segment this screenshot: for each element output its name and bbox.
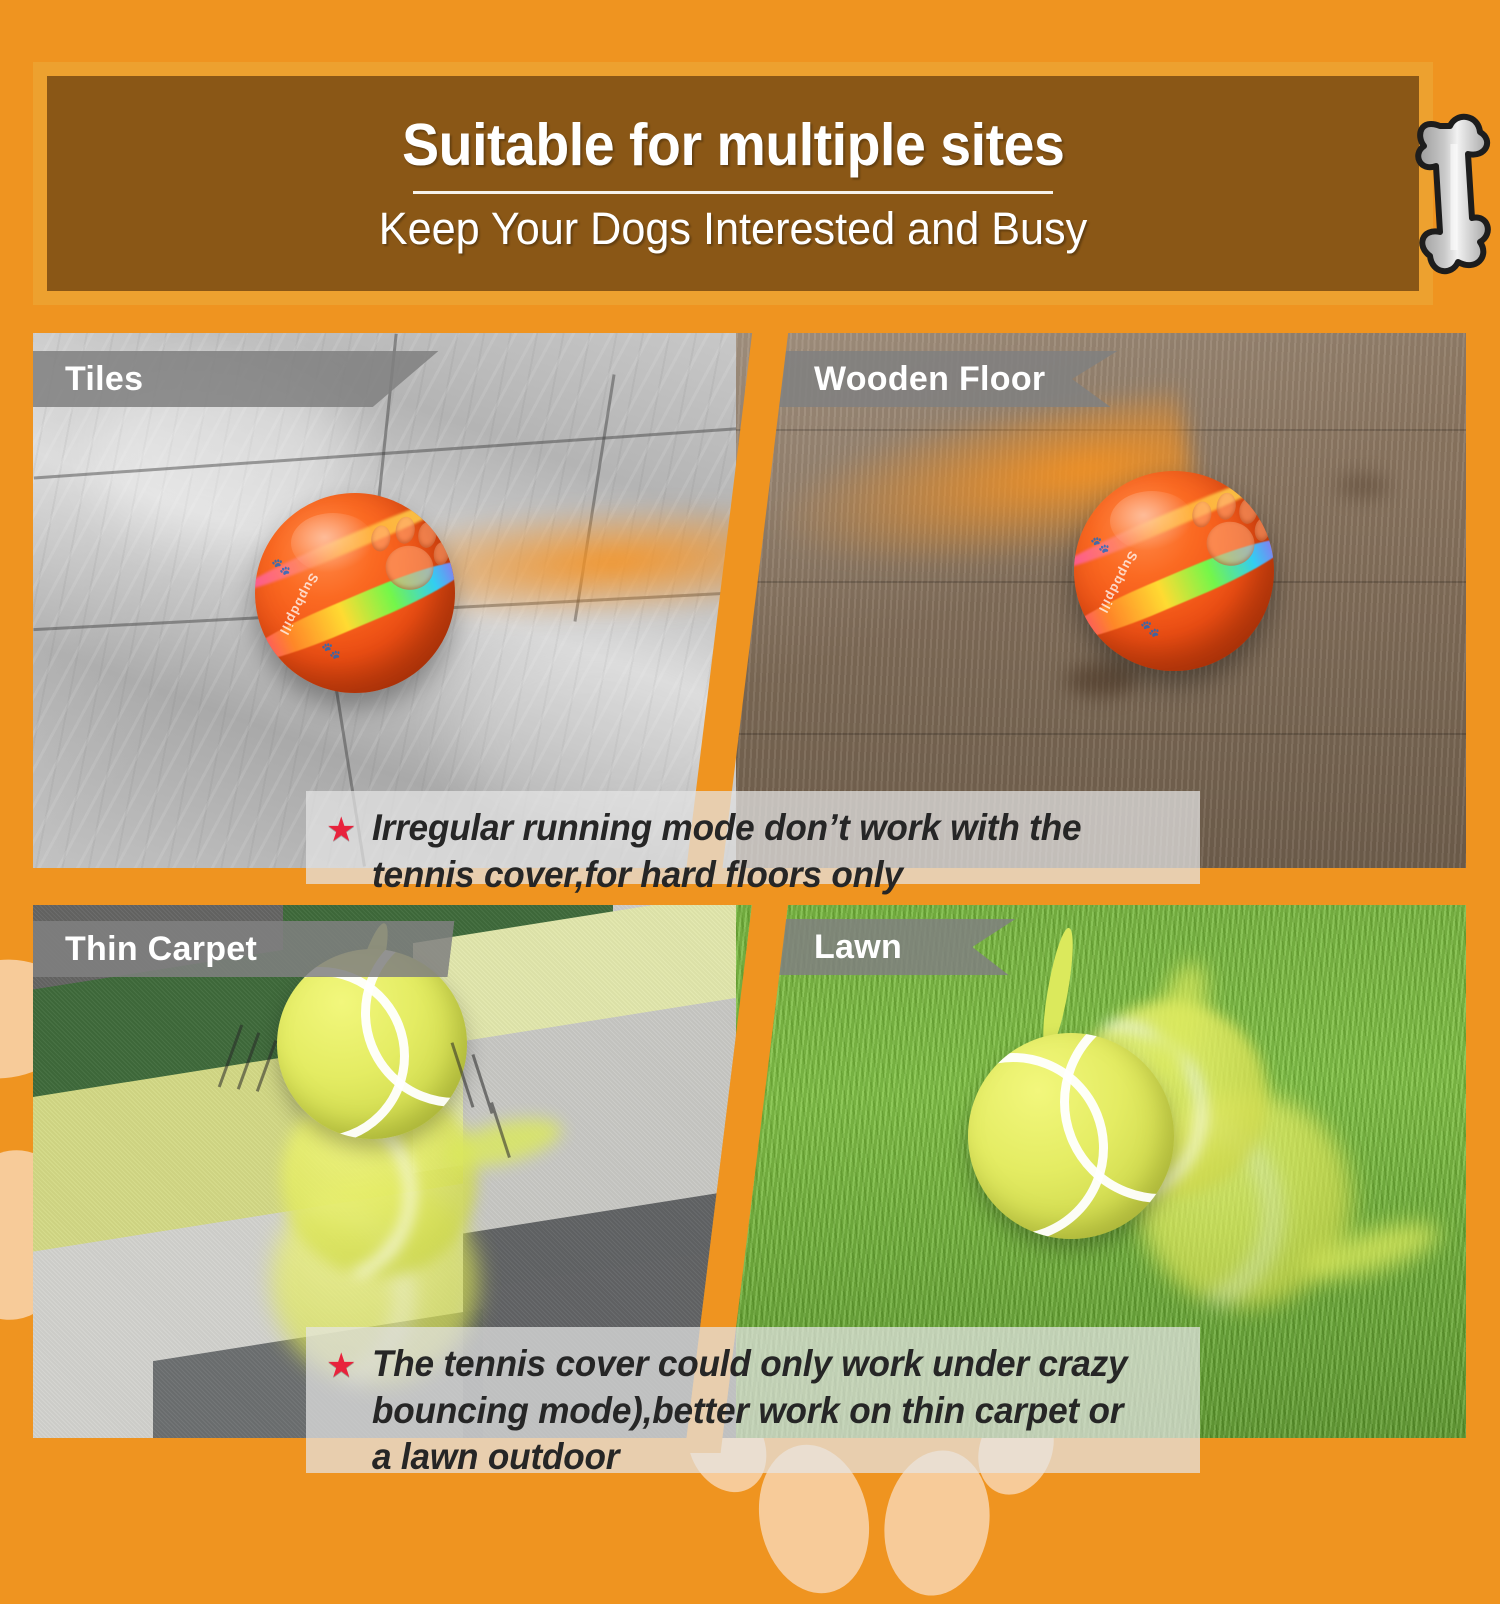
paw-emboss [1181, 486, 1272, 580]
star-bullet-icon: ★ [326, 1349, 356, 1383]
tennis-ball-cover [968, 1033, 1174, 1239]
panel-label-text: Lawn [814, 928, 902, 967]
ball-highlight [291, 513, 375, 573]
panel-label-text: Wooden Floor [814, 360, 1046, 399]
ball-mini-paw-icon: 🐾 [1140, 619, 1160, 639]
header-inner-box: Suitable for multiple sites Keep Your Do… [47, 76, 1419, 291]
ball-mini-paw-icon: 🐾 [321, 641, 341, 661]
tennis-ball-cover [277, 949, 467, 1139]
caption-hard-floors: ★ Irregular running mode don’t work with… [306, 791, 1200, 884]
paw-emboss [360, 510, 451, 604]
orange-rolling-ball: Supbdpill 🐾 🐾 [1074, 471, 1274, 671]
panel-label-text: Tiles [65, 360, 143, 399]
panel-label-wooden-floor: Wooden Floor [761, 351, 1118, 407]
wood-knot [1336, 473, 1390, 499]
panel-wooden-floor[interactable]: Supbdpill 🐾 🐾 Wooden Floor [736, 333, 1466, 868]
caption-text: The tennis cover could only work under c… [372, 1341, 1137, 1481]
caption-text: Irregular running mode don’t work with t… [372, 805, 1137, 898]
caption-tennis-cover: ★ The tennis cover could only work under… [306, 1327, 1200, 1473]
ball-mini-paw-icon: 🐾 [1090, 535, 1110, 555]
panel-label-thin-carpet: Thin Carpet [33, 921, 454, 977]
ball-mini-paw-icon: 🐾 [271, 557, 291, 577]
ball-highlight [1110, 491, 1194, 551]
page-subtitle: Keep Your Dogs Interested and Busy [379, 206, 1088, 251]
panel-label-text: Thin Carpet [65, 930, 257, 969]
panel-label-lawn: Lawn [761, 919, 1016, 975]
bone-icon [1410, 92, 1498, 297]
header-divider-rule [413, 191, 1053, 194]
wood-plank-seam [736, 429, 1466, 431]
orange-rolling-ball: Supbdpill 🐾 🐾 [255, 493, 455, 693]
panel-tiles[interactable]: Supbdpill 🐾 🐾 Tiles [33, 333, 763, 868]
star-bullet-icon: ★ [326, 813, 356, 847]
header-banner: Suitable for multiple sites Keep Your Do… [33, 62, 1433, 305]
wood-plank-seam [736, 733, 1466, 735]
wood-knot [1066, 663, 1136, 697]
page-title: Suitable for multiple sites [402, 116, 1064, 175]
panel-label-tiles: Tiles [33, 351, 438, 407]
